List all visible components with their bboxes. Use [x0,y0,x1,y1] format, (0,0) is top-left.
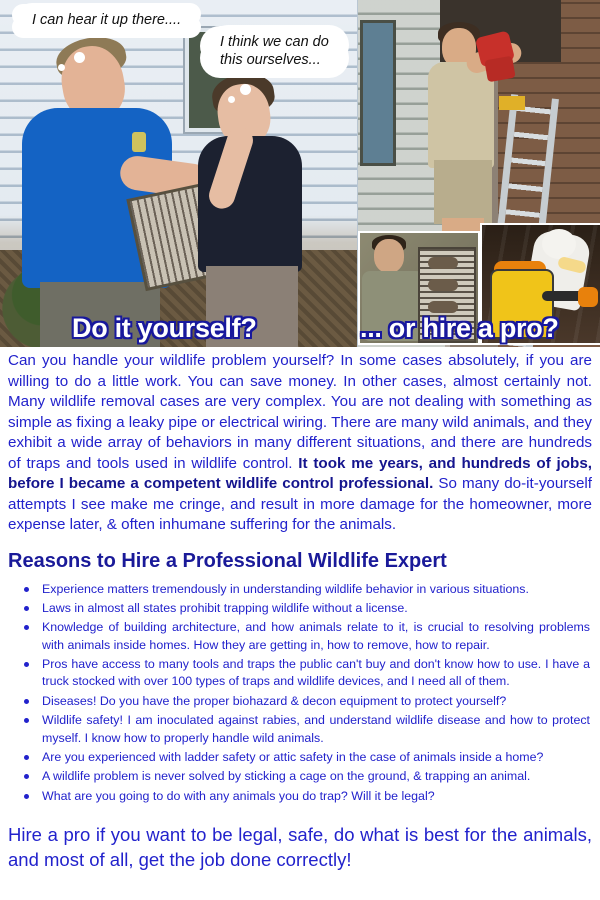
thumb-a-rodent [428,257,458,269]
intro-paragraph: Can you handle your wildlife problem you… [8,351,592,536]
thought-bubble-dot-small [58,64,65,71]
article-content: Can you handle your wildlife problem you… [0,347,600,873]
photo-collage: I can hear it up there.... I think we ca… [0,0,600,347]
list-item: Experience matters tremendously in under… [42,581,590,598]
list-item: What are you going to do with any animal… [42,788,590,805]
pro-house-window [360,20,396,166]
hazmat-hood [542,229,576,259]
list-item: Are you experienced with ladder safety o… [42,749,590,766]
wildlife-diy-vs-pro-page: I can hear it up there.... I think we ca… [0,0,600,900]
list-item: Laws in almost all states prohibit trapp… [42,600,590,617]
shirt-logo [132,132,146,152]
pro-shorts [434,160,492,224]
list-item: A wildlife problem is never solved by st… [42,768,590,785]
section-heading-reasons: Reasons to Hire a Professional Wildlife … [8,550,600,573]
pro-uniform-shirt [428,62,494,168]
caption-do-it-yourself: Do it yourself? [72,313,257,344]
list-item: Pros have access to many tools and traps… [42,656,590,691]
woman-thought-bubble: I think we can do this ourselves... [206,28,343,74]
thought-bubble-dot-large [74,52,85,63]
reasons-list: Experience matters tremendously in under… [6,581,590,805]
list-item: Wildlife safety! I am inoculated against… [42,712,590,747]
thought-bubble-dot-large [240,84,251,95]
caption-hire-a-pro: ... or hire a pro? [360,313,559,344]
closing-call-to-action: Hire a pro if you want to be legal, safe… [8,823,592,873]
ladder-top-cap [499,96,525,110]
thumb-a-rodent [428,301,458,313]
thumb-a-head [374,239,404,273]
man-thought-bubble: I can hear it up there.... [18,6,195,34]
work-glove [578,287,598,307]
thumb-a-rodent [428,279,458,291]
list-item: Diseases! Do you have the proper biohaza… [42,693,590,710]
thought-bubble-dot-small [228,96,235,103]
list-item: Knowledge of building architecture, and … [42,619,590,654]
